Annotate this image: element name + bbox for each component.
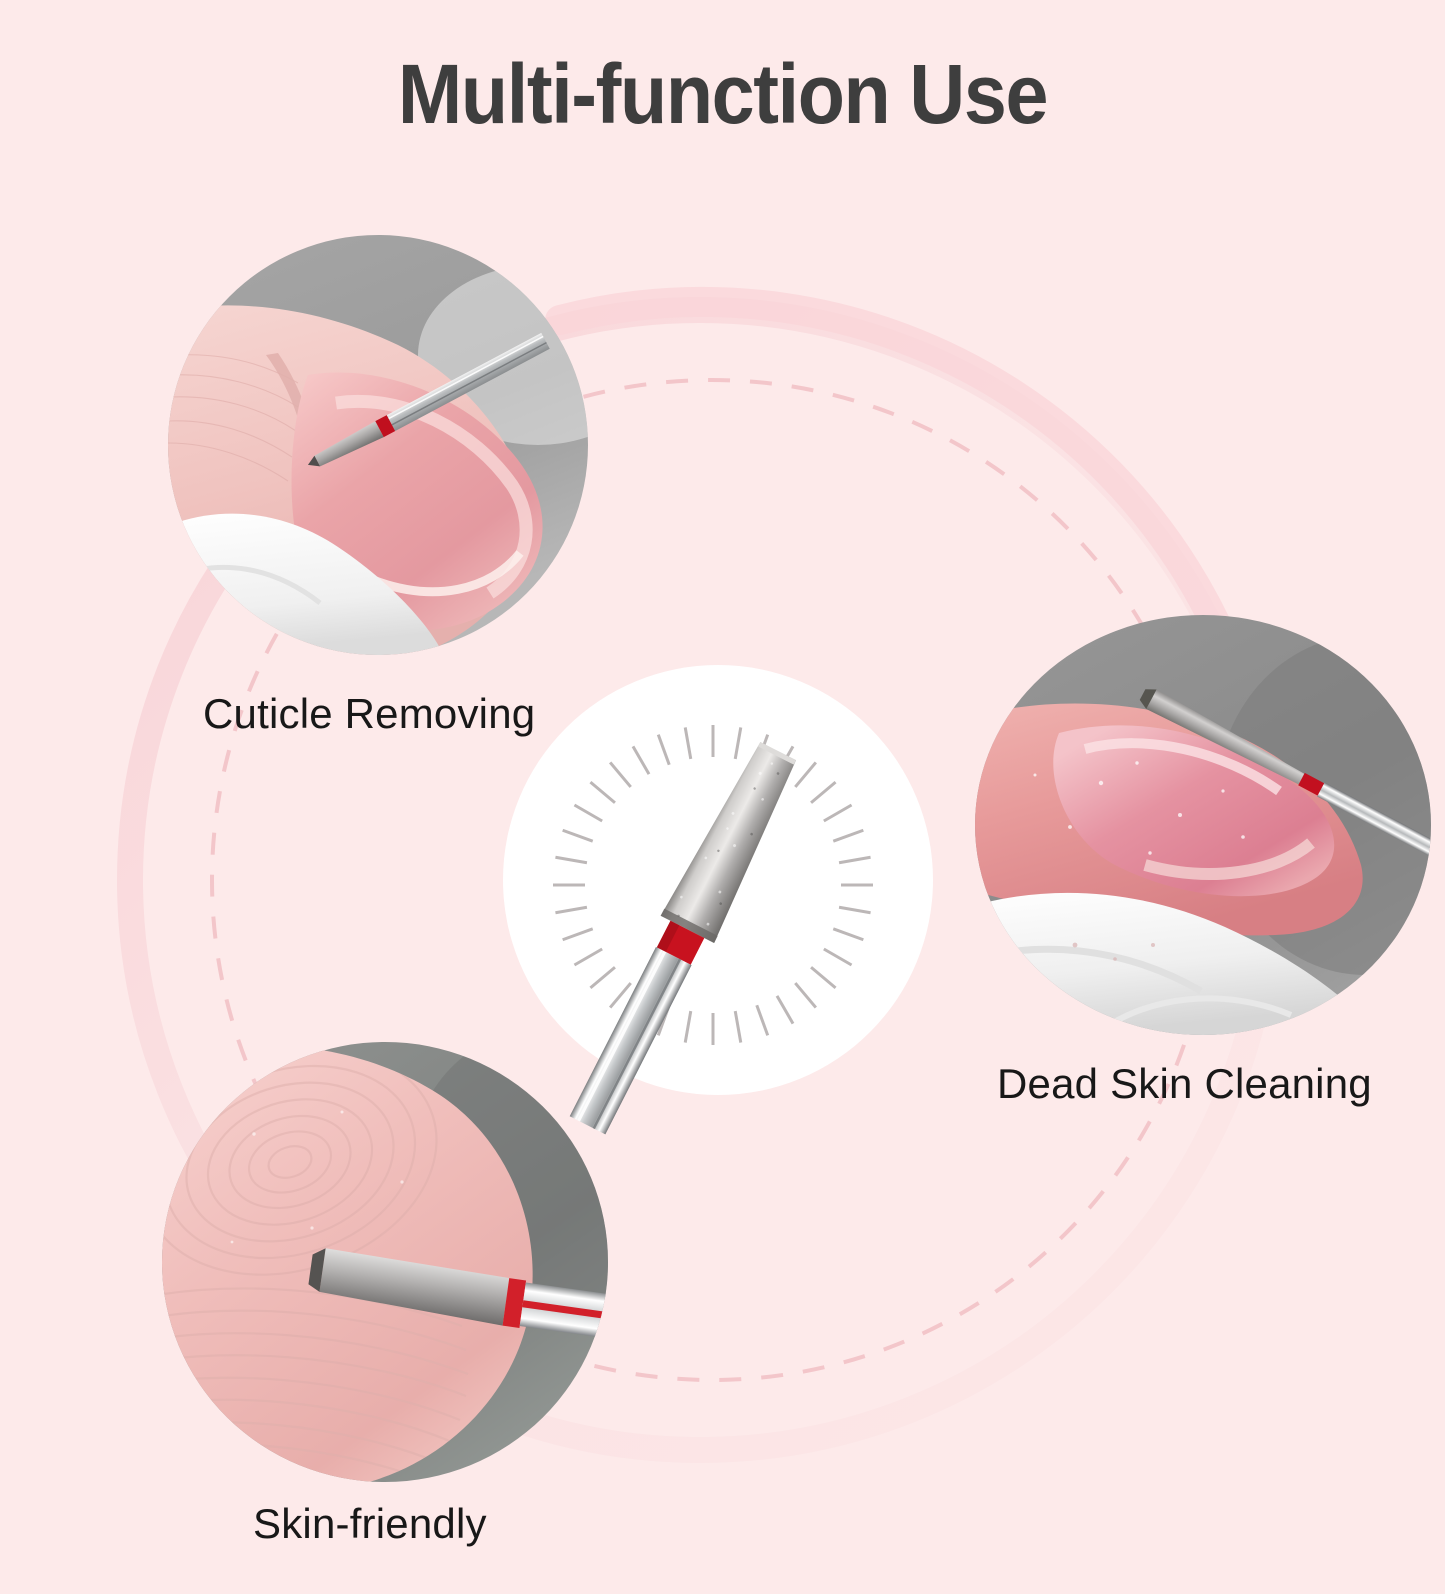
cuticle-removing-illustration — [168, 235, 588, 655]
feature-caption-dead-skin-cleaning: Dead Skin Cleaning — [997, 1060, 1372, 1108]
product-hero-illustration — [463, 635, 983, 1135]
dead-skin-cleaning-illustration — [975, 615, 1431, 1035]
page-title: Multi-function Use — [58, 46, 1387, 143]
drill-bit-icon — [561, 738, 805, 1135]
product-hero-badge — [503, 665, 933, 1095]
feature-caption-skin-friendly: Skin-friendly — [253, 1500, 487, 1548]
feature-photo-cuticle-removing — [168, 235, 588, 655]
infographic-canvas: Multi-function Use — [0, 0, 1445, 1594]
feature-photo-dead-skin-cleaning — [975, 615, 1431, 1035]
